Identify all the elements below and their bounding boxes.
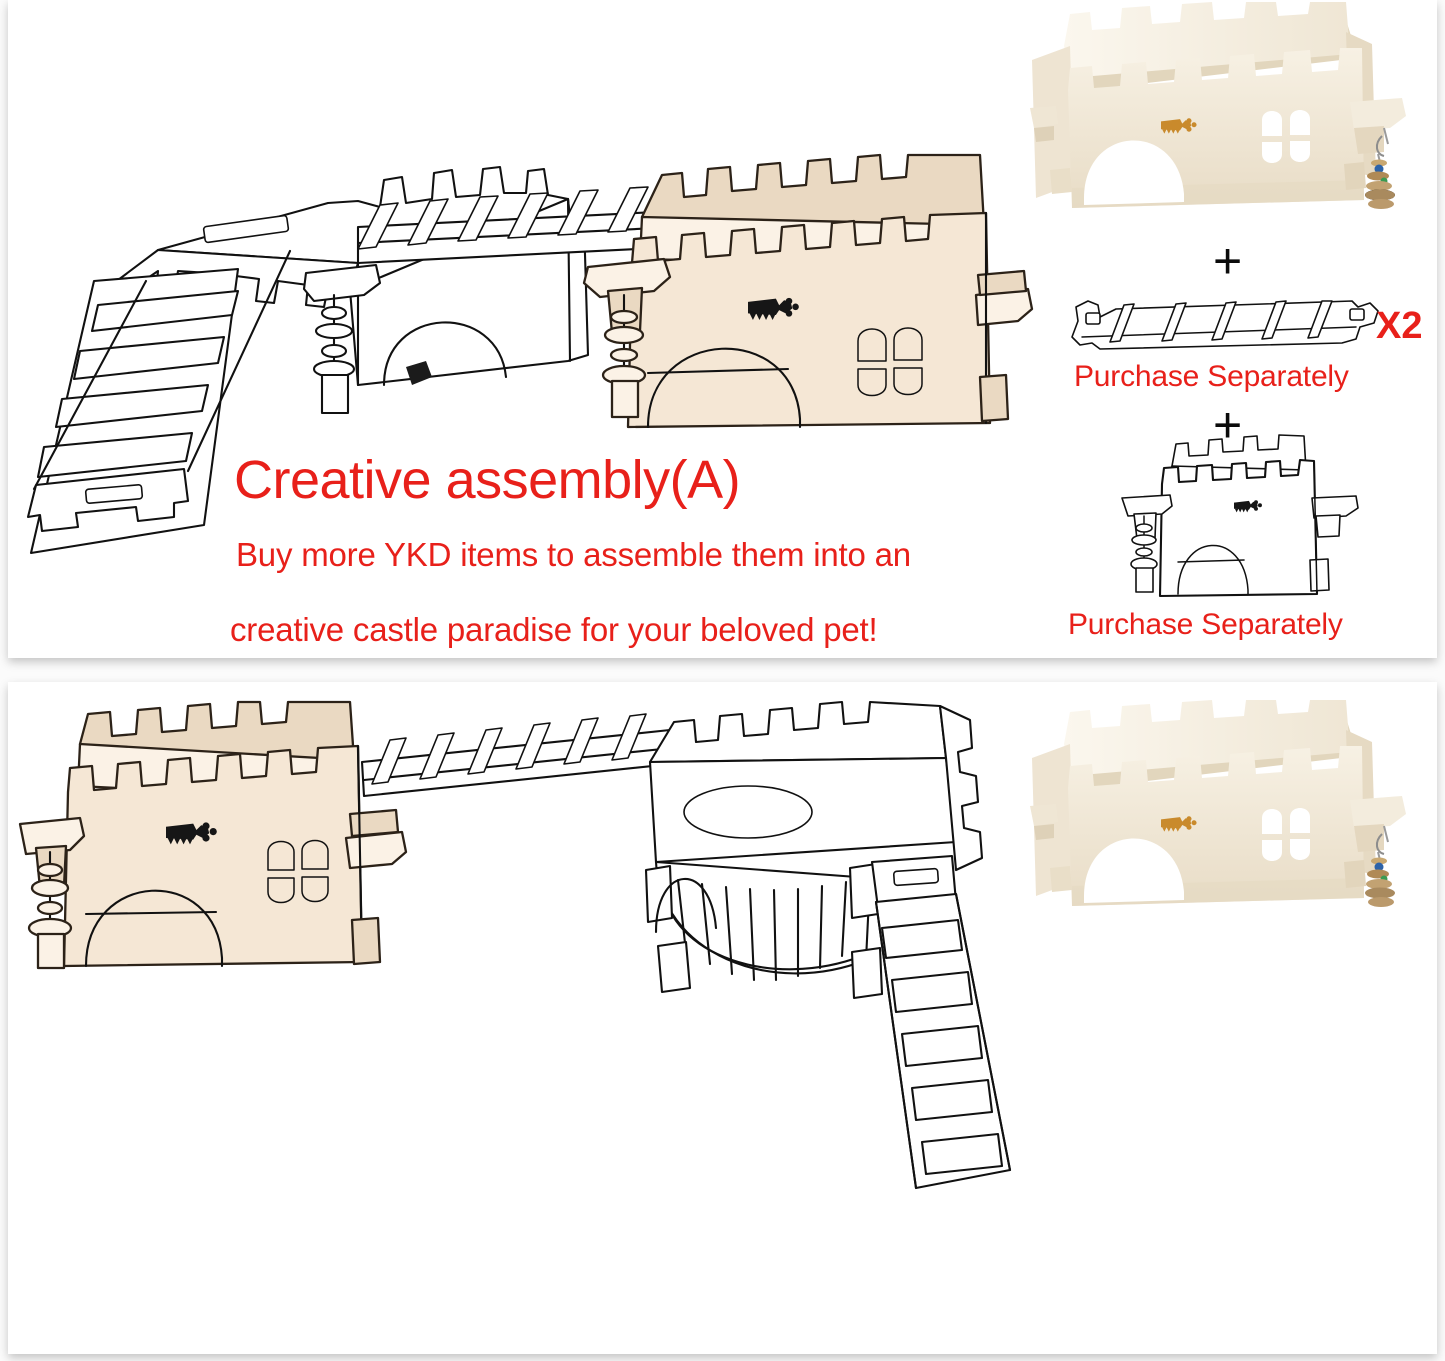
ramp-ladder-b [876, 894, 1010, 1188]
assembly-panel-a: Creative assembly(A) Buy more YKD items … [8, 0, 1437, 658]
castle-hideout-right-a [584, 155, 1032, 427]
panel-a-subline-1: Buy more YKD items to assemble them into… [236, 536, 911, 574]
infographic-page: Creative assembly(A) Buy more YKD items … [0, 0, 1445, 1361]
assembly-illustration-b [10, 702, 1010, 1302]
panel-a-subline-2: creative castle paradise for your belove… [230, 611, 878, 649]
connecting-bridge-b [362, 714, 672, 796]
castle-product-photo-a [1028, 2, 1437, 224]
assembly-illustration-a [28, 155, 1028, 575]
bridge-ladder-outline-a [1070, 293, 1380, 355]
castle-hideout-left-b [20, 702, 406, 968]
plus-sign-a-1: + [1213, 236, 1242, 286]
bridge-quantity-badge-a: X2 [1376, 305, 1422, 348]
castle-product-photo-b [1028, 700, 1437, 922]
panel-a-headline: Creative assembly(A) [234, 449, 740, 511]
assembly-panel-b: Creative assembly(B) Buy more YKD items … [8, 682, 1437, 1354]
purchase-separately-label-a-1: Purchase Separately [1074, 360, 1349, 394]
castle-hideout-outline-a [1088, 434, 1378, 606]
purchase-separately-label-a-2: Purchase Separately [1068, 608, 1343, 642]
